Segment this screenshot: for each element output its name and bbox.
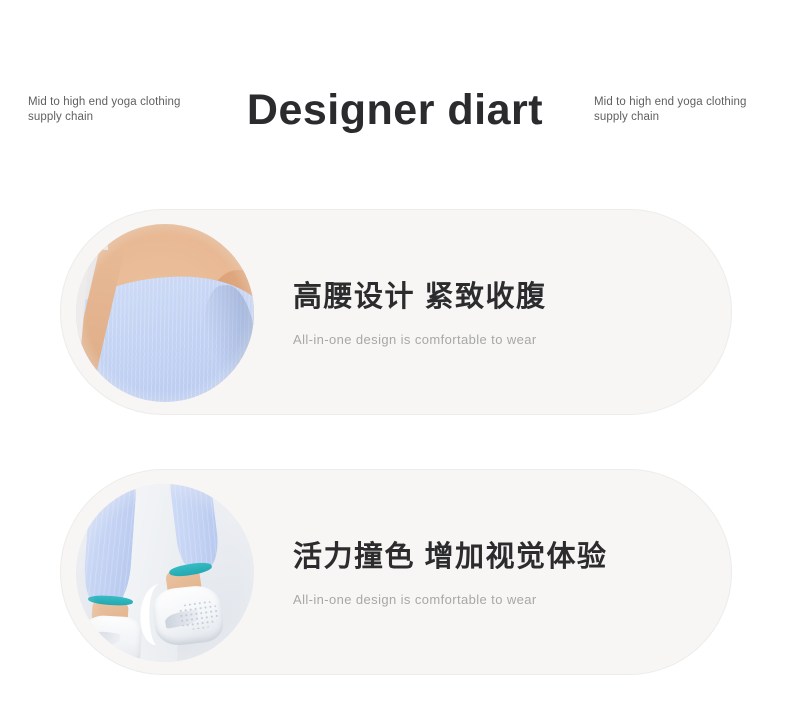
page-header: Mid to high end yoga clothing supply cha… xyxy=(0,0,790,175)
feature-card-high-waist[interactable]: 高腰设计 紧致收腹 All-in-one design is comfortab… xyxy=(60,209,732,415)
feature-card-contrast-color[interactable]: 活力撞色 增加视觉体验 All-in-one design is comfort… xyxy=(60,469,732,675)
high-waist-leggings-photo xyxy=(76,224,254,402)
high-waist-illustration xyxy=(76,224,254,402)
feature-card-title: 活力撞色 增加视觉体验 xyxy=(293,537,701,577)
contrast-color-ankle-sneakers-photo xyxy=(76,484,254,662)
feature-card-subtitle: All-in-one design is comfortable to wear xyxy=(293,331,701,349)
feature-card-body: 高腰设计 紧致收腹 All-in-one design is comfortab… xyxy=(293,210,701,415)
feature-card-title: 高腰设计 紧致收腹 xyxy=(293,277,701,317)
feature-card-body: 活力撞色 增加视觉体验 All-in-one design is comfort… xyxy=(293,470,701,675)
header-caption-right: Mid to high end yoga clothing supply cha… xyxy=(594,95,779,125)
feature-card-subtitle: All-in-one design is comfortable to wear xyxy=(293,591,701,609)
photo-vignette xyxy=(76,224,254,402)
ankle-sneakers-illustration xyxy=(76,484,254,662)
photo-vignette xyxy=(76,484,254,662)
